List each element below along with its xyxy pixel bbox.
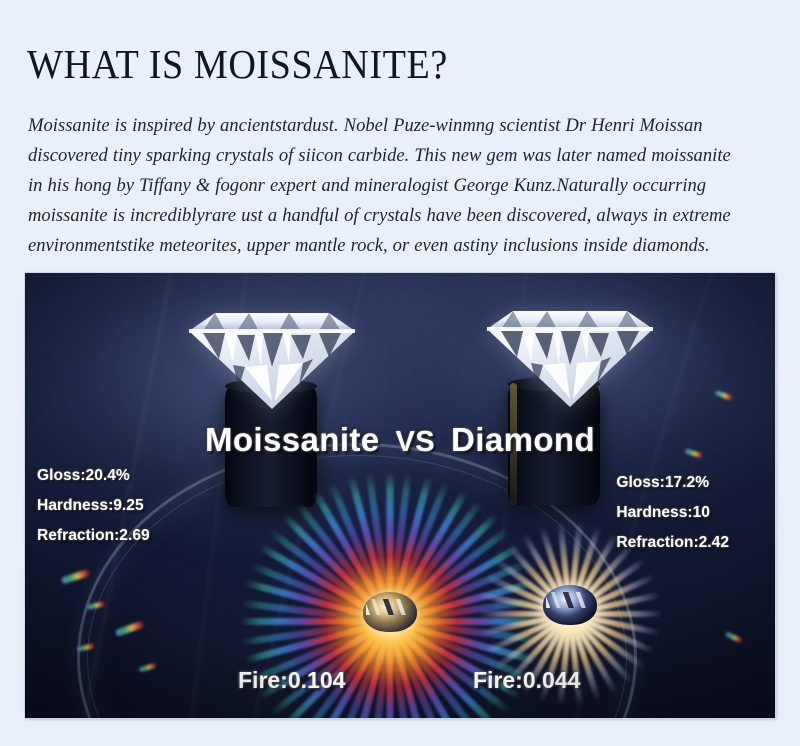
page-title: WHAT IS MOISSANITE? [27,39,448,89]
intro-paragraph: Moissanite is inspired by ancientstardus… [28,111,746,261]
photo-vignette [25,273,775,718]
moissanite-info-page: WHAT IS MOISSANITE? Moissanite is inspir… [0,0,800,746]
comparison-photo: MoissaniteVSDiamond Gloss:20.4% Hardness… [25,273,775,718]
